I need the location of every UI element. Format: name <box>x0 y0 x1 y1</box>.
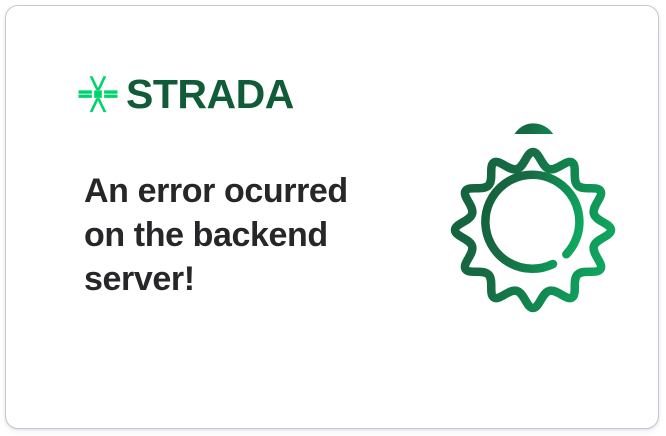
error-message-line-2: on the backend <box>84 213 384 257</box>
gear-icon-detail <box>447 144 619 316</box>
brand-wordmark: STRADA <box>126 74 294 115</box>
strada-asterisk-icon <box>78 74 118 114</box>
error-message-line-1: An error ocurred <box>84 169 384 213</box>
error-message-line-3: server! <box>84 257 384 301</box>
error-message: An error ocurred on the backend server! <box>84 169 384 301</box>
screen-root: STRADA An error ocurred on the backend s… <box>0 0 666 436</box>
brand-lockup: STRADA <box>78 70 294 118</box>
error-card: STRADA An error ocurred on the backend s… <box>5 5 659 429</box>
